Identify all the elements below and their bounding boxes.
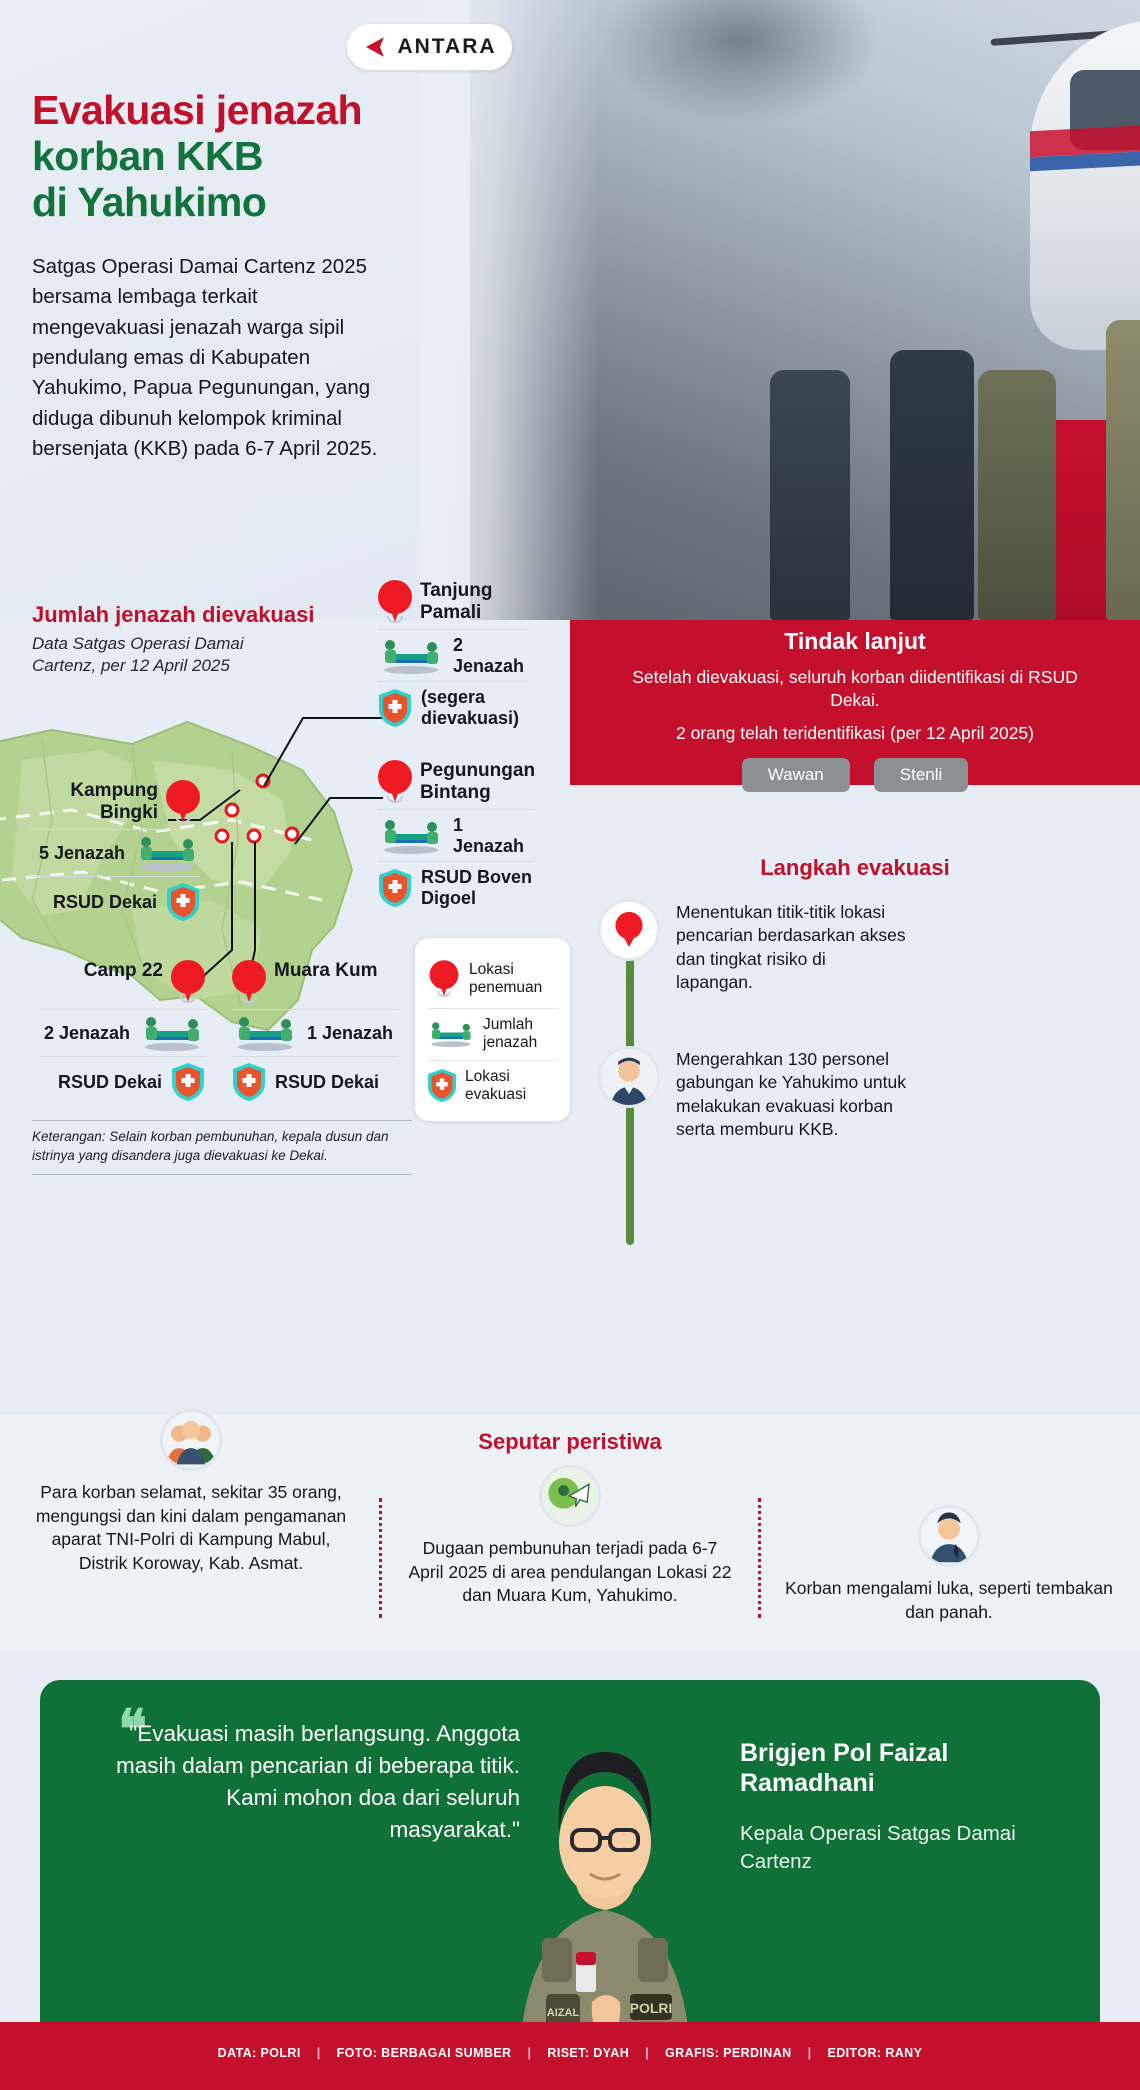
hero-gradient-overlay [420, 0, 600, 620]
card-icon-circle [918, 1505, 980, 1567]
medical-shield-icon [427, 1068, 457, 1103]
step-icon-bubble [598, 1046, 660, 1108]
card-text: Korban mengalami luka, seperti tembakan … [784, 1577, 1114, 1624]
location-pegunungan-bintang: Pegunungan Bintang 1 Jenazah RSUD Boven … [378, 760, 533, 909]
card-icon-circle [160, 1409, 222, 1471]
location-dest-row: RSUD Dekai [30, 876, 200, 922]
location-tanjung-pamali: Tanjung Pamali 2 Jenazah (segera dievaku… [378, 580, 528, 729]
map-pin-icon [171, 960, 205, 1004]
medical-shield-icon [166, 882, 200, 922]
map-point-dot [216, 830, 228, 842]
credit-separator: | [792, 2046, 828, 2060]
location-name: Pegunungan Bintang [420, 760, 535, 804]
location-count-row: 2 Jenazah [40, 1009, 205, 1051]
map-section-subheading: Data Satgas Operasi Damai Cartenz, per 1… [32, 633, 282, 677]
legend-label: Lokasi evakuasi [465, 1068, 558, 1105]
tindak-lanjut-heading: Tindak lanjut [570, 620, 1140, 655]
card-divider [758, 1498, 761, 1618]
step-icon-bubble [598, 899, 660, 961]
map-pin-icon [232, 960, 266, 1004]
tindak-lanjut-panel: Tindak lanjut Setelah dievakuasi, seluru… [570, 620, 1140, 785]
injured-person-icon [921, 1508, 977, 1564]
person-officer [770, 370, 850, 620]
seputar-card-1: Para korban selamat, sekitar 35 orang, m… [26, 1409, 356, 1624]
langkah-heading: Langkah evakuasi [570, 855, 1140, 881]
credit-foto: FOTO: BERBAGAI SUMBER [337, 2046, 512, 2060]
location-muara-kum: Muara Kum 1 Jenazah RSUD Dekai [232, 960, 397, 1102]
stretcher-icon [232, 1015, 298, 1051]
stretcher-icon [139, 1015, 205, 1051]
location-name: Camp 22 [84, 960, 163, 982]
legend-item-lokasi-penemuan: Lokasi penemuan [427, 950, 558, 1008]
stretcher-icon [378, 818, 444, 854]
svg-text:AIZAL: AIZAL [547, 2007, 580, 2019]
location-destination: RSUD Dekai [58, 1072, 162, 1093]
page-title: Evakuasi jenazah korban KKB di Yahukimo [32, 88, 432, 226]
credit-riset: RISET: DYAH [547, 2046, 629, 2060]
location-dest-row: RSUD Dekai [40, 1056, 205, 1102]
langkah-evakuasi-section: Langkah evakuasi Menentukan titik-titik … [570, 855, 1140, 1141]
location-destination: RSUD Dekai [53, 892, 157, 913]
step-text: Menentukan titik-titik lokasi pencarian … [676, 899, 906, 994]
antara-logo[interactable]: ANTARA [347, 24, 512, 70]
langkah-step-2: Mengerahkan 130 personel gabungan ke Yah… [570, 1046, 1140, 1141]
map-note: Keterangan: Selain korban pembunuhan, ke… [32, 1120, 412, 1175]
map-pin-icon [601, 902, 657, 958]
map-point-dot [286, 828, 298, 840]
map-point-dot [248, 830, 260, 842]
stretcher-icon [378, 638, 444, 674]
legend-label: Jumlah jenazah [483, 1016, 558, 1053]
location-count: 1 Jenazah [453, 815, 533, 856]
airplane-location-icon [542, 1468, 598, 1524]
title-line-3: di Yahukimo [32, 180, 432, 226]
card-icon-circle [539, 1465, 601, 1527]
credit-separator: | [301, 2046, 337, 2060]
tindak-lanjut-text-1: Setelah dievakuasi, seluruh korban diide… [570, 666, 1140, 713]
card-text: Para korban selamat, sekitar 35 orang, m… [26, 1481, 356, 1576]
location-count-row: 5 Jenazah [30, 829, 200, 871]
map-pin-icon [166, 780, 200, 824]
location-destination: RSUD Boven Digoel [421, 867, 533, 908]
location-dest-row: RSUD Dekai [232, 1056, 397, 1102]
seputar-card-2: Dugaan pembunuhan terjadi pada 6-7 April… [405, 1409, 735, 1624]
location-count: 2 Jenazah [453, 635, 528, 676]
map-legend: Lokasi penemuan Jumlah jenazah Lokasi ev… [415, 938, 570, 1121]
stretcher-icon [427, 1020, 475, 1048]
person-soldier [1106, 320, 1140, 620]
victim-chip-wawan[interactable]: Wawan [742, 758, 850, 792]
legend-label: Lokasi penemuan [469, 961, 558, 998]
legend-item-jumlah-jenazah: Jumlah jenazah [427, 1008, 558, 1060]
medical-shield-icon [378, 868, 412, 908]
title-line-1: Evakuasi jenazah [32, 88, 432, 134]
map-section: Jumlah jenazah dievakuasi Data Satgas Op… [0, 620, 600, 1180]
quote-author-name: Brigjen Pol Faizal Ramadhani [740, 1738, 1070, 1798]
location-count-row: 1 Jenazah [232, 1009, 397, 1051]
map-pin-icon [378, 580, 412, 624]
location-dest-row: (segera dievakuasi) [378, 681, 528, 728]
credit-grafis: GRAFIS: PERDINAN [665, 2046, 792, 2060]
legend-item-lokasi-evakuasi: Lokasi evakuasi [427, 1060, 558, 1112]
map-point-dot [257, 775, 269, 787]
map-pin-icon [378, 760, 412, 804]
seputar-card-3: Korban mengalami luka, seperti tembakan … [784, 1409, 1114, 1624]
credit-editor: EDITOR: RANY [827, 2046, 922, 2060]
person-soldier [978, 370, 1056, 620]
portrait-illustration: POLRI AIZAL [480, 1702, 730, 2045]
location-count: 1 Jenazah [307, 1023, 393, 1044]
svg-text:POLRI: POLRI [630, 2000, 673, 2016]
seputar-cards: Para korban selamat, sekitar 35 orang, m… [0, 1409, 1140, 1624]
hero-section: ANTARA Evakuasi jenazah korban KKB di Ya… [0, 0, 1140, 620]
title-line-2: korban KKB [32, 134, 432, 180]
location-name: Kampung Bingki [30, 780, 158, 824]
tindak-lanjut-text-2: 2 orang telah teridentifikasi (per 12 Ap… [570, 722, 1140, 745]
group-people-icon [163, 1412, 219, 1468]
quote-section: ❝ "Evakuasi masih berlangsung. Anggota m… [40, 1680, 1100, 2045]
map-section-heading: Jumlah jenazah dievakuasi [32, 602, 314, 628]
medical-shield-icon [171, 1062, 205, 1102]
logo-text: ANTARA [397, 35, 496, 59]
location-destination: RSUD Dekai [275, 1072, 379, 1093]
antara-triangle-logo-icon [362, 34, 388, 60]
person-officer [890, 350, 974, 620]
location-name: Muara Kum [274, 960, 377, 982]
location-count: 2 Jenazah [44, 1023, 130, 1044]
credit-data: DATA: POLRI [218, 2046, 301, 2060]
map-point-dot [226, 804, 238, 816]
footer-credits: DATA: POLRI | FOTO: BERBAGAI SUMBER | RI… [0, 2022, 1140, 2090]
location-destination: (segera dievakuasi) [421, 687, 528, 728]
victim-chip-stenli[interactable]: Stenli [874, 758, 969, 792]
step-text: Mengerahkan 130 personel gabungan ke Yah… [676, 1046, 906, 1141]
identified-victims-chips: Wawan Stenli [570, 758, 1140, 792]
quote-author-role: Kepala Operasi Satgas Damai Cartenz [740, 1820, 1070, 1875]
map-pin-icon [430, 960, 459, 997]
seputar-peristiwa-section: Seputar peristiwa Para korban selamat, s… [0, 1415, 1140, 1650]
card-text: Dugaan pembunuhan terjadi pada 6-7 April… [405, 1537, 735, 1608]
credit-separator: | [629, 2046, 665, 2060]
location-dest-row: RSUD Boven Digoel [378, 861, 533, 908]
card-divider [379, 1498, 382, 1618]
credit-separator: | [511, 2046, 547, 2060]
location-count-row: 1 Jenazah [378, 809, 533, 856]
quote-text: "Evakuasi masih berlangsung. Anggota mas… [100, 1718, 520, 1846]
location-name: Tanjung Pamali [420, 580, 528, 624]
location-kampung-bingki: Kampung Bingki 5 Jenazah RSUD Dekai [30, 780, 200, 922]
location-count: 5 Jenazah [39, 843, 125, 864]
officer-avatar-icon [601, 1049, 657, 1105]
lede-paragraph: Satgas Operasi Damai Cartenz 2025 bersam… [32, 252, 392, 464]
medical-shield-icon [378, 688, 412, 728]
stretcher-icon [134, 835, 200, 871]
langkah-step-1: Menentukan titik-titik lokasi pencarian … [570, 899, 1140, 994]
location-count-row: 2 Jenazah [378, 629, 528, 676]
location-camp-22: Camp 22 2 Jenazah RSUD Dekai [40, 960, 205, 1102]
medical-shield-icon [232, 1062, 266, 1102]
